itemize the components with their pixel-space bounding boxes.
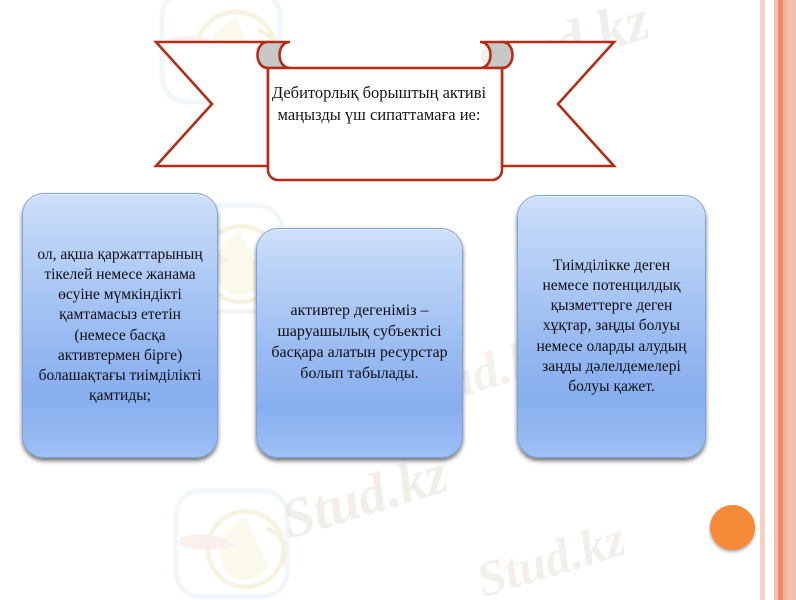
ribbon-right-fold — [480, 42, 513, 68]
watermark-text-bottom-right: Stud.kz — [470, 509, 632, 600]
ribbon-left-fold — [258, 42, 291, 68]
orange-accent-circle — [710, 505, 755, 550]
ribbon-banner: Дебиторлық борыштың активі маңызды үш си… — [150, 30, 620, 190]
stud-kz-bird-logo-icon — [155, 470, 325, 600]
stripe-6 — [787, 0, 796, 600]
ribbon-right-tail — [502, 42, 614, 166]
content-box-left[interactable]: ол, ақша қаржаттарының тікелей немесе жа… — [22, 193, 218, 458]
watermark-group-bottom-left — [155, 470, 325, 600]
stripe-2 — [765, 0, 774, 600]
right-edge-stripes — [752, 0, 796, 600]
content-box-left-text: ол, ақша қаржаттарының тікелей немесе жа… — [33, 245, 207, 406]
content-box-middle-text: активтер дегеніміз – шаруашылық субъекті… — [267, 301, 452, 384]
ribbon-title: Дебиторлық борыштың активі маңызды үш си… — [268, 82, 490, 126]
content-box-middle[interactable]: активтер дегеніміз – шаруашылық субъекті… — [256, 228, 463, 458]
content-box-right[interactable]: Тиімділікке деген немесе потенцилдық қыз… — [517, 195, 706, 458]
ribbon-left-tail — [156, 42, 268, 166]
slide-canvas: Stud.kz Stud.kz Stud.kz Stud.kz Stud.kz — [0, 0, 796, 600]
content-box-right-text: Тиімділікке деген немесе потенцилдық қыз… — [528, 256, 695, 397]
watermark-text-bottom-center: Stud.kz — [274, 442, 455, 553]
